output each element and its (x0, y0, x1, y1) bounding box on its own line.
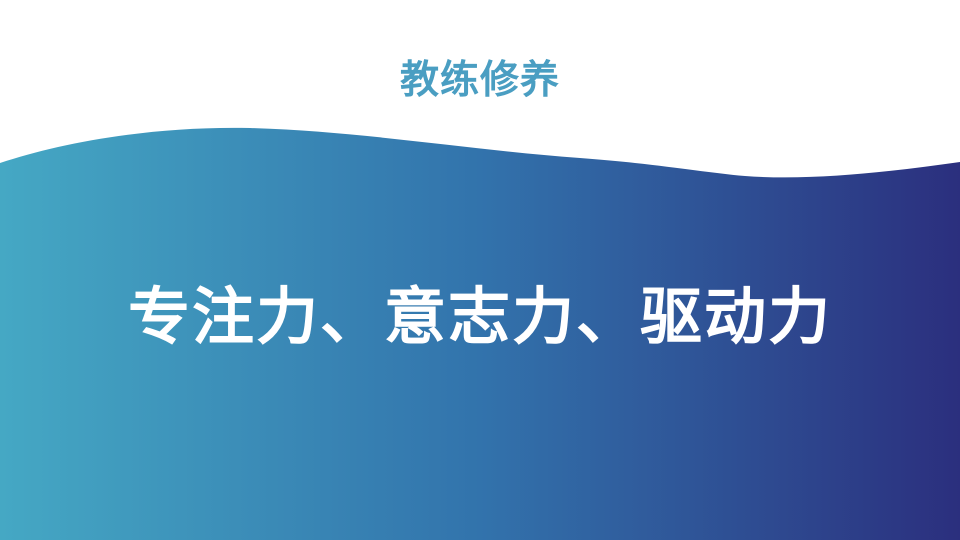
slide-canvas: 教练修养 专注力、意志力、驱动力 (0, 0, 960, 540)
section-kicker-title: 教练修养 (0, 58, 960, 104)
slide-main-heading: 专注力、意志力、驱动力 (0, 281, 960, 355)
